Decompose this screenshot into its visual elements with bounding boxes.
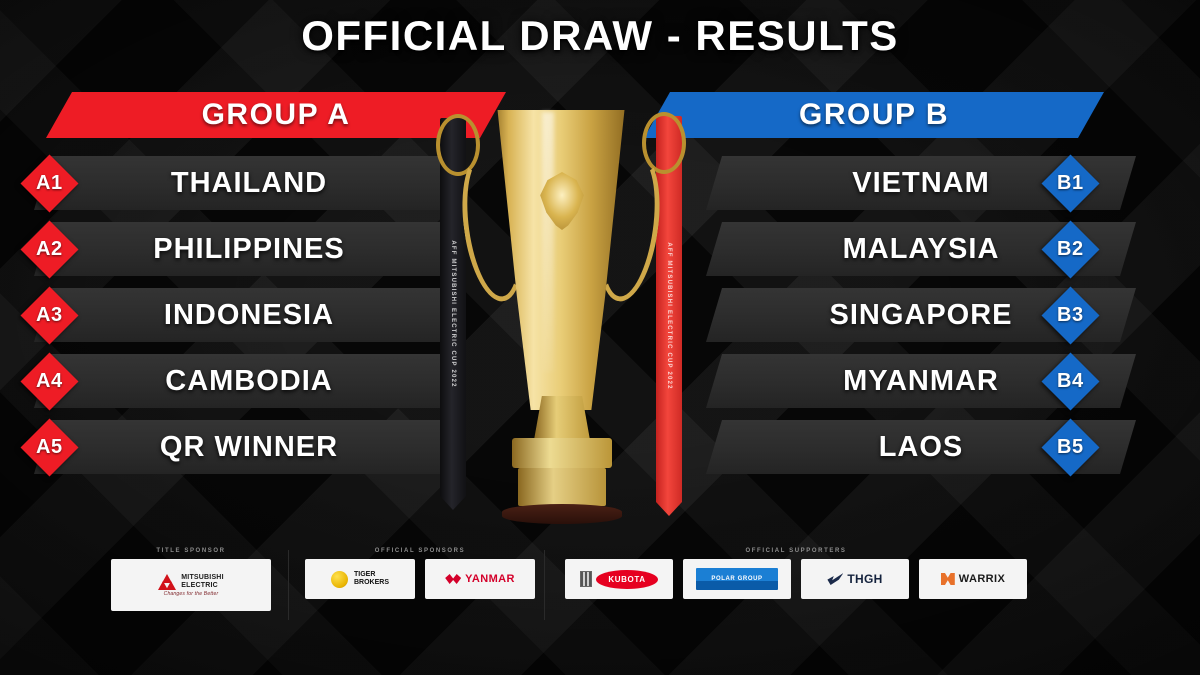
blue-sponsor-name: POLAR GROUP [711, 576, 762, 582]
team-a1: THAILAND [34, 156, 464, 210]
trophy-plaque [518, 468, 606, 506]
sponsor-divider-1 [288, 550, 289, 620]
sponsor-group-official: OFFICIAL SPONSORS TIGER BROKERS YANMAR [300, 548, 540, 599]
sponsor-supporter-logos: KUBOTA POLAR GROUP THGH WARRIX [556, 559, 1036, 599]
sponsor-group-title: TITLE SPONSOR MITSUBISHI ELECTRIC Change… [96, 548, 286, 611]
badge-b5-label: B5 [1057, 436, 1084, 459]
mitsubishi-logo-row: MITSUBISHI ELECTRIC [158, 574, 223, 590]
ribbon-red-text: AFF MITSUBISHI ELECTRIC CUP 2022 [666, 242, 672, 389]
thgh-mark-icon [827, 573, 843, 585]
group-b-label: GROUP B [799, 98, 949, 132]
logo-kubota: KUBOTA [565, 559, 673, 599]
logo-mitsubishi-electric: MITSUBISHI ELECTRIC Changes for the Bett… [111, 559, 271, 611]
sponsor-supporter-label: OFFICIAL SUPPORTERS [556, 548, 1036, 554]
draw-results-graphic: OFFICIAL DRAW - RESULTS GROUP A GROUP B … [0, 0, 1200, 675]
trophy-plinth [512, 438, 612, 468]
kubota-grill-icon [580, 571, 592, 587]
trophy-base [502, 504, 622, 524]
group-b-banner: GROUP B [644, 92, 1104, 138]
warrix-name: WARRIX [959, 573, 1005, 585]
tiger-coin-icon [331, 571, 348, 588]
logo-thgh: THGH [801, 559, 909, 599]
ribbon-red: AFF MITSUBISHI ELECTRIC CUP 2022 [656, 116, 682, 516]
logo-blue-sponsor: POLAR GROUP [683, 559, 791, 599]
mitsubishi-diamond-icon [158, 574, 176, 590]
badge-b2-label: B2 [1057, 238, 1084, 261]
mitsubishi-name: MITSUBISHI ELECTRIC [181, 574, 223, 589]
sponsor-title-label: TITLE SPONSOR [96, 548, 286, 554]
sponsor-official-logos: TIGER BROKERS YANMAR [300, 559, 540, 599]
yanmar-mark-icon [445, 574, 461, 584]
trophy-image: AFF MITSUBISHI ELECTRIC CUP 2022 AFF MIT… [430, 104, 692, 536]
badge-b4-label: B4 [1057, 370, 1084, 393]
team-a5: QR WINNER [34, 420, 464, 474]
thgh-name: THGH [847, 572, 882, 586]
blue-sponsor-plate: POLAR GROUP [696, 568, 778, 590]
mitsubishi-tagline: Changes for the Better [164, 591, 219, 597]
ribbon-black: AFF MITSUBISHI ELECTRIC CUP 2022 [440, 118, 466, 510]
badge-b3-label: B3 [1057, 304, 1084, 327]
trophy-stem [534, 396, 590, 440]
trophy-highlight [542, 112, 554, 372]
sponsor-title-logos: MITSUBISHI ELECTRIC Changes for the Bett… [96, 559, 286, 611]
yanmar-name: YANMAR [465, 573, 515, 585]
team-a3: INDONESIA [34, 288, 464, 342]
team-a2: PHILIPPINES [34, 222, 464, 276]
warrix-mark-icon [941, 573, 955, 585]
sponsor-group-supporters: OFFICIAL SUPPORTERS KUBOTA POLAR GROUP T… [556, 548, 1036, 599]
logo-warrix: WARRIX [919, 559, 1027, 599]
sponsor-divider-2 [544, 550, 545, 620]
kubota-name: KUBOTA [596, 570, 658, 589]
logo-yanmar: YANMAR [425, 559, 535, 599]
page-title: OFFICIAL DRAW - RESULTS [0, 12, 1200, 60]
sponsor-official-label: OFFICIAL SPONSORS [300, 548, 540, 554]
ribbon-black-text: AFF MITSUBISHI ELECTRIC CUP 2022 [450, 240, 456, 387]
group-a-label: GROUP A [202, 98, 351, 132]
sponsor-bar: TITLE SPONSOR MITSUBISHI ELECTRIC Change… [0, 548, 1200, 648]
badge-b1-label: B1 [1057, 172, 1084, 195]
logo-tiger-brokers: TIGER BROKERS [305, 559, 415, 599]
team-a4: CAMBODIA [34, 354, 464, 408]
tiger-brokers-name: TIGER BROKERS [354, 571, 389, 587]
